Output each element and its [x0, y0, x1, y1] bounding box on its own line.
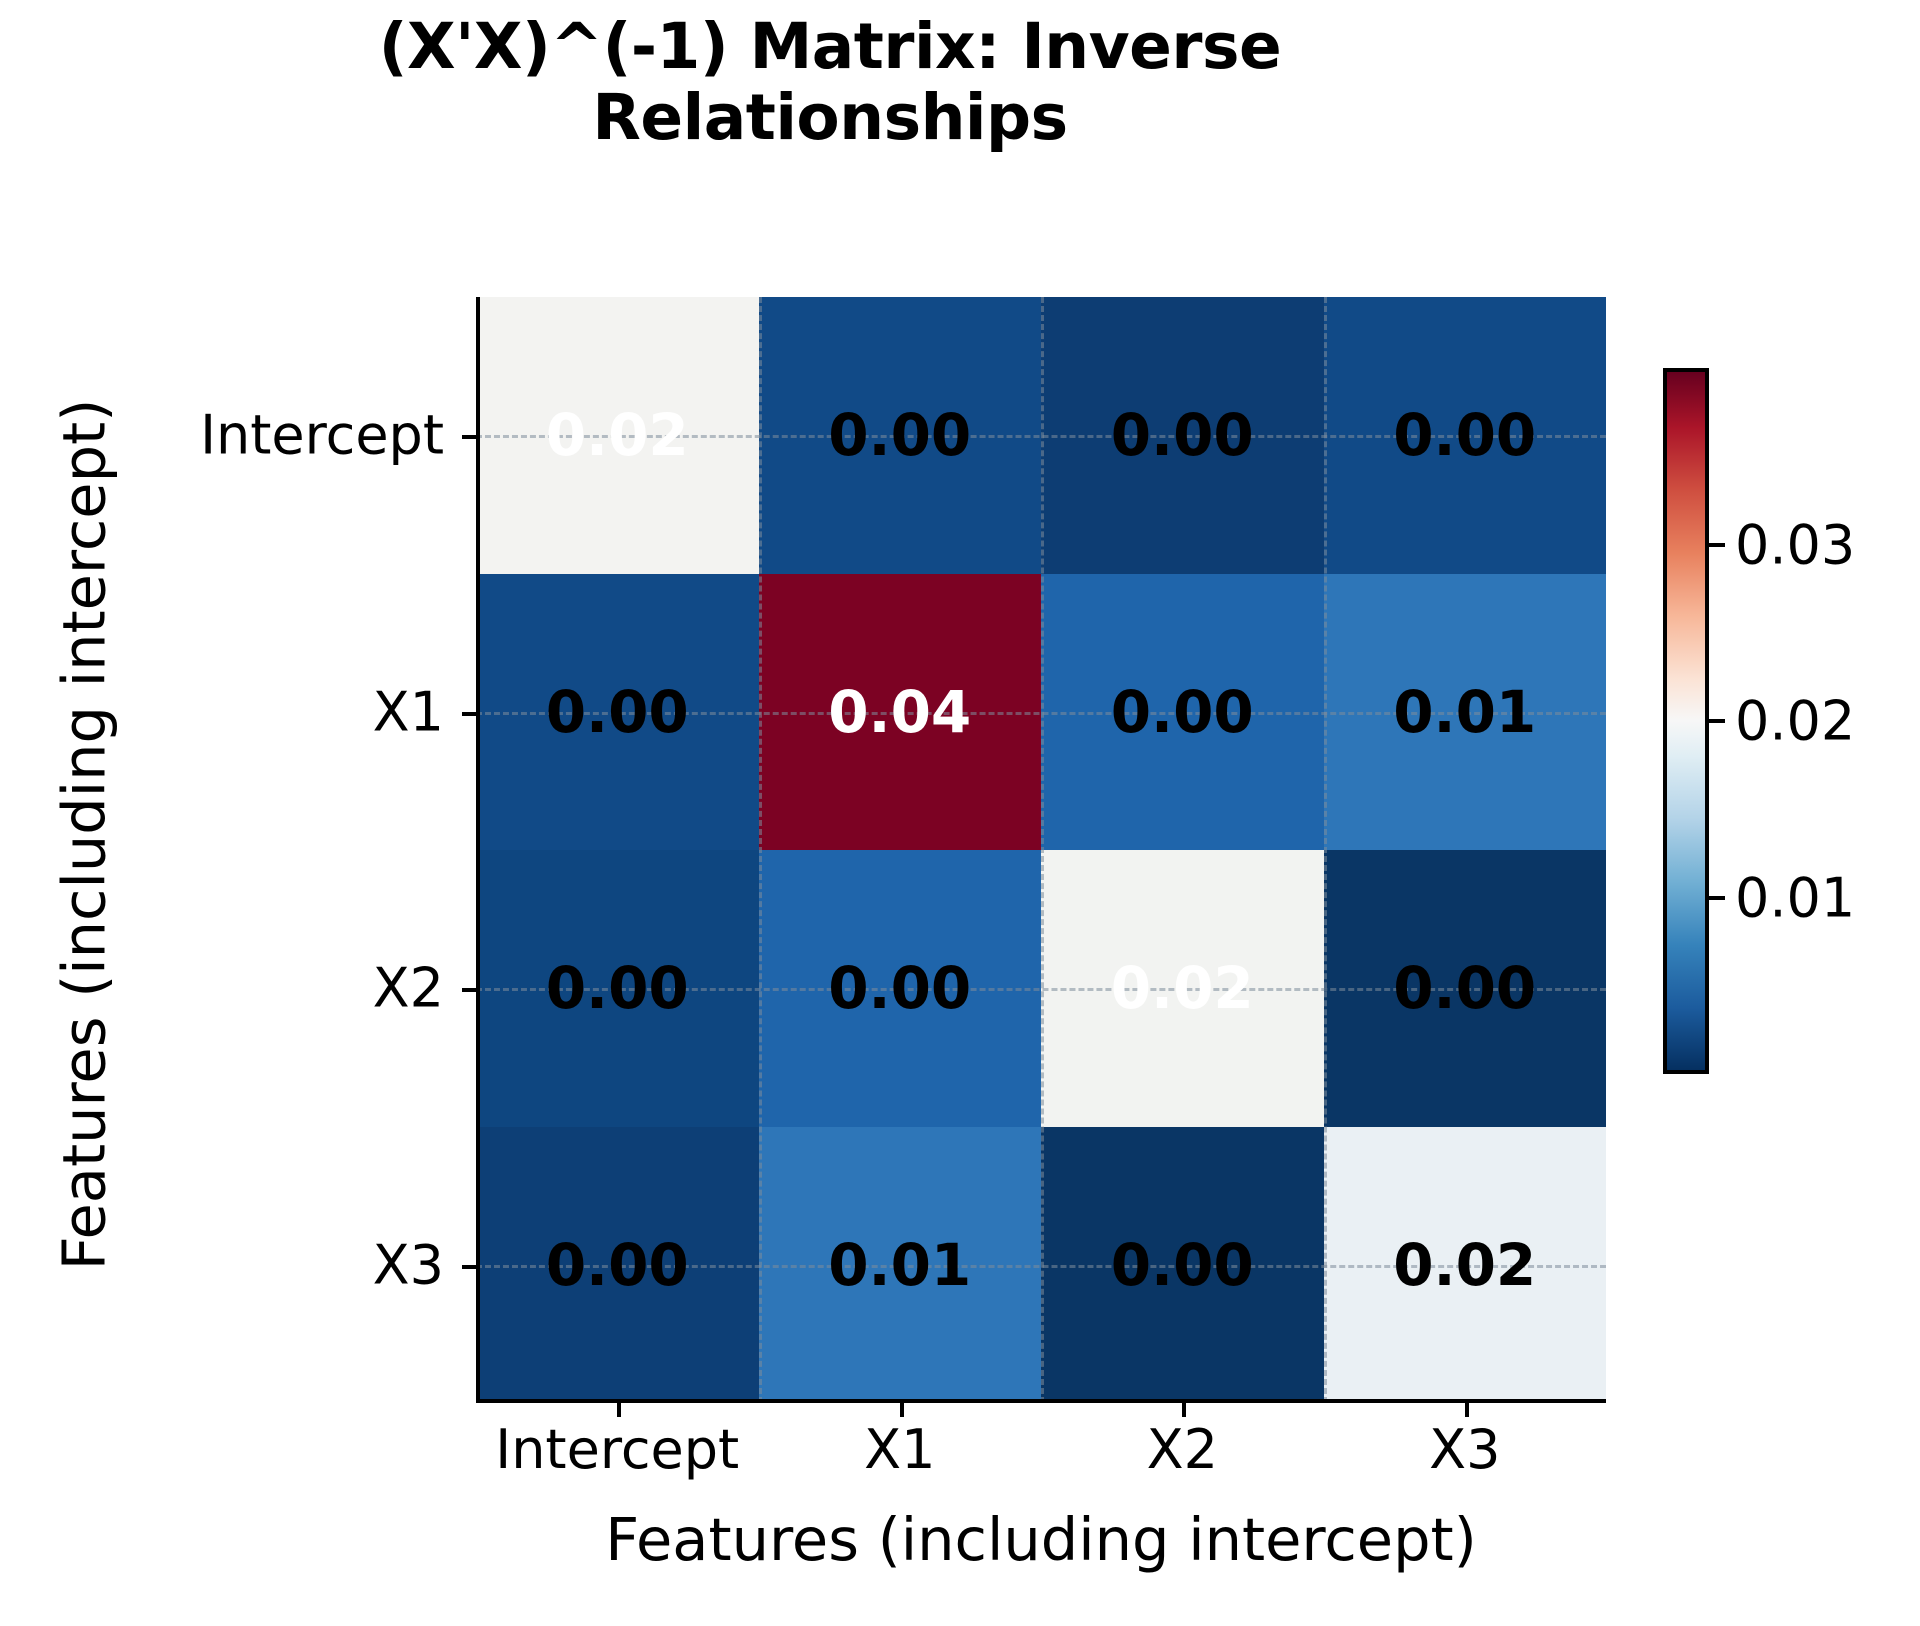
heatmap-cell-value: 0.00	[828, 406, 971, 464]
colorbar-tick-mark	[1709, 543, 1725, 547]
y-tick-mark	[462, 712, 476, 716]
heatmap-cell-value: 0.00	[546, 959, 689, 1017]
heatmap-cell-value: 0.01	[1393, 683, 1536, 741]
x-tick-label: Intercept	[495, 1418, 739, 1481]
heatmap-cell-value: 0.02	[546, 406, 689, 464]
heatmap-cell: 0.02	[476, 297, 759, 574]
x-tick-mark	[1465, 1403, 1469, 1417]
heatmap-cell: 0.01	[1324, 574, 1607, 851]
heatmap-cell-value: 0.00	[1111, 406, 1254, 464]
heatmap-grid: 0.020.000.000.000.000.040.000.010.000.00…	[476, 297, 1606, 1403]
heatmap-cell: 0.00	[476, 574, 759, 851]
chart-title: (X'X)^(-1) Matrix: Inverse Relationships	[230, 12, 1430, 153]
heatmap-cell: 0.02	[1324, 1127, 1607, 1404]
heatmap-cell-value: 0.00	[1393, 959, 1536, 1017]
colorbar-gradient	[1663, 368, 1709, 1074]
heatmap-cell-value: 0.02	[1111, 959, 1254, 1017]
heatmap-cell: 0.00	[1041, 1127, 1324, 1404]
heatmap-cell-value: 0.00	[828, 959, 971, 1017]
heatmap-cell: 0.00	[476, 850, 759, 1127]
heatmap-cell: 0.00	[1041, 297, 1324, 574]
heatmap-cell: 0.04	[759, 574, 1042, 851]
colorbar-tick-label: 0.02	[1735, 690, 1855, 753]
x-tick-mark	[1182, 1403, 1186, 1417]
heatmap-cell-value: 0.04	[828, 683, 971, 741]
colorbar-tick-label: 0.03	[1735, 513, 1855, 576]
colorbar	[1663, 368, 1709, 1074]
heatmap-cell-value: 0.00	[546, 1236, 689, 1294]
heatmap-cell: 0.00	[759, 850, 1042, 1127]
x-tick-label: X3	[1429, 1418, 1500, 1481]
colorbar-tick-label: 0.01	[1735, 866, 1855, 929]
heatmap-cell: 0.02	[1041, 850, 1324, 1127]
heatmap-cell-value: 0.00	[1111, 683, 1254, 741]
y-axis-label: Features (including intercept)	[50, 235, 119, 1435]
heatmap-cell: 0.00	[1041, 574, 1324, 851]
heatmap-cell: 0.00	[476, 1127, 759, 1404]
heatmap-cell: 0.01	[759, 1127, 1042, 1404]
heatmap-cell-value: 0.00	[1393, 406, 1536, 464]
heatmap-cell-value: 0.00	[546, 683, 689, 741]
heatmap-cell: 0.00	[1324, 297, 1607, 574]
y-tick-mark	[462, 1265, 476, 1269]
x-tick-label: X1	[864, 1418, 935, 1481]
heatmap-cell-value: 0.00	[1111, 1236, 1254, 1294]
heatmap-figure: (X'X)^(-1) Matrix: Inverse Relationships…	[0, 0, 1920, 1626]
heatmap-cell: 0.00	[1324, 850, 1607, 1127]
x-axis-label: Features (including intercept)	[476, 1505, 1606, 1574]
x-tick-label: X2	[1147, 1418, 1218, 1481]
x-tick-mark	[900, 1403, 904, 1417]
colorbar-tick-mark	[1709, 896, 1725, 900]
heatmap-cell: 0.00	[759, 297, 1042, 574]
x-tick-mark	[617, 1403, 621, 1417]
colorbar-tick-mark	[1709, 719, 1725, 723]
y-tick-mark	[462, 988, 476, 992]
y-tick-mark	[462, 435, 476, 439]
heatmap-cell-value: 0.01	[828, 1236, 971, 1294]
heatmap-cell-value: 0.02	[1393, 1236, 1536, 1294]
heatmap-plot-area: 0.020.000.000.000.000.040.000.010.000.00…	[476, 297, 1606, 1403]
